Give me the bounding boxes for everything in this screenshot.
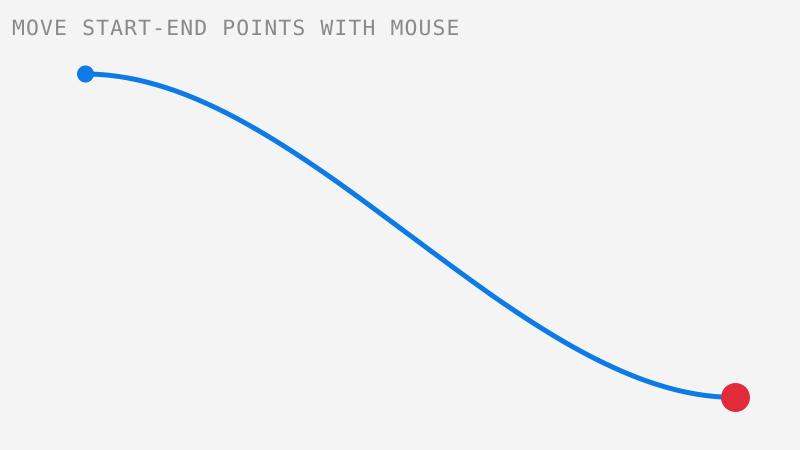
start-point-drag-target[interactable] <box>76 64 96 84</box>
bezier-curve-path <box>86 74 736 398</box>
bezier-curve-svg <box>0 0 800 450</box>
end-point-drag-target[interactable] <box>721 383 750 412</box>
curve-editor-canvas[interactable]: MOVE START-END POINTS WITH MOUSE <box>0 0 800 450</box>
